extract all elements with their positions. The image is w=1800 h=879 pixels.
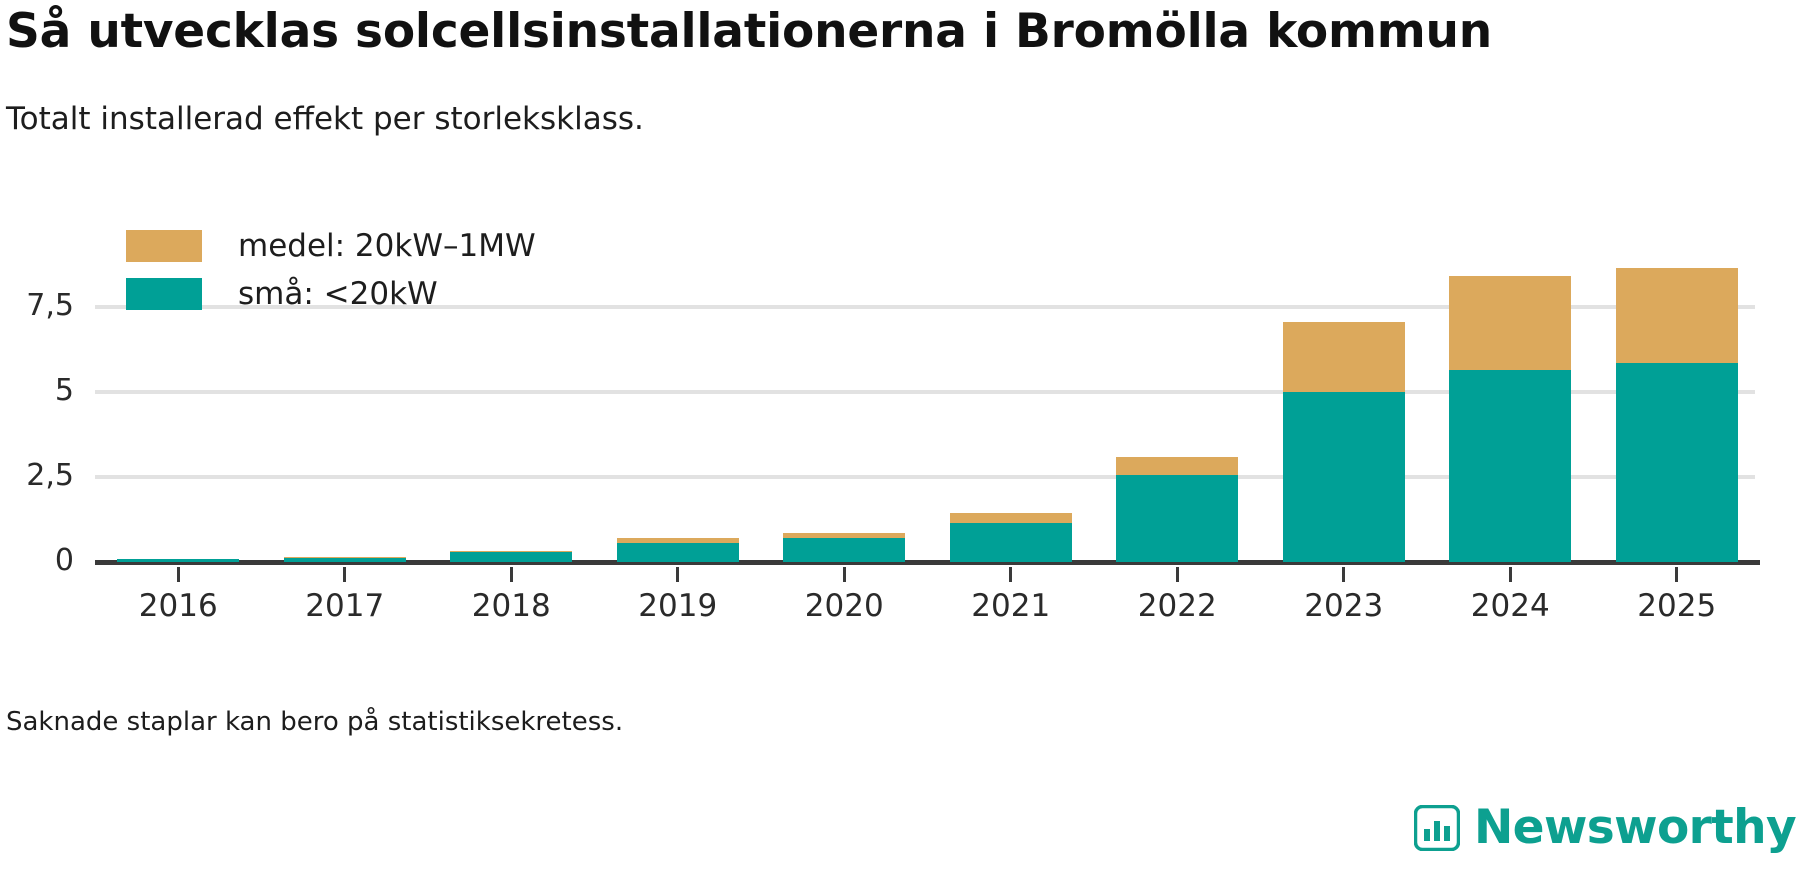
bar-segment-sma[interactable] bbox=[1616, 363, 1738, 562]
chart-plot-area: 02,557,520162017201820192020202120222023… bbox=[0, 0, 1800, 879]
bar-segment-sma[interactable] bbox=[617, 543, 739, 562]
bar-segment-sma[interactable] bbox=[117, 559, 239, 562]
x-axis-tick bbox=[1342, 567, 1345, 582]
x-axis-tick-label: 2024 bbox=[1430, 591, 1590, 622]
bar-stack-2021[interactable] bbox=[950, 513, 1072, 562]
brand-name: Newsworthy bbox=[1474, 804, 1796, 851]
bar-chart-logo-icon bbox=[1414, 805, 1460, 851]
x-axis-tick-label: 2022 bbox=[1097, 591, 1257, 622]
x-axis-tick-label: 2017 bbox=[265, 591, 425, 622]
x-axis-tick-label: 2025 bbox=[1597, 591, 1757, 622]
x-axis-tick bbox=[343, 567, 346, 582]
x-axis-tick bbox=[510, 567, 513, 582]
bar-stack-2017[interactable] bbox=[284, 557, 406, 562]
x-axis-tick bbox=[1509, 567, 1512, 582]
brand-logo[interactable]: Newsworthy bbox=[1414, 804, 1796, 851]
bar-stack-2022[interactable] bbox=[1116, 457, 1238, 562]
bar-segment-medel[interactable] bbox=[1449, 276, 1571, 370]
legend-label-medel: medel: 20kW–1MW bbox=[238, 231, 536, 262]
y-axis-tick-label: 0 bbox=[0, 546, 74, 576]
bar-segment-sma[interactable] bbox=[950, 523, 1072, 562]
legend-label-sma: små: <20kW bbox=[238, 279, 438, 310]
x-axis-tick bbox=[177, 567, 180, 582]
bar-segment-sma[interactable] bbox=[1449, 370, 1571, 562]
x-axis-tick-label: 2018 bbox=[431, 591, 591, 622]
bar-stack-2025[interactable] bbox=[1616, 268, 1738, 562]
x-axis-tick bbox=[1675, 567, 1678, 582]
bar-segment-sma[interactable] bbox=[783, 538, 905, 562]
x-axis-tick bbox=[676, 567, 679, 582]
bar-stack-2023[interactable] bbox=[1283, 322, 1405, 562]
chart-footnote: Saknade staplar kan bero på statistiksek… bbox=[6, 707, 623, 737]
bar-stack-2024[interactable] bbox=[1449, 276, 1571, 562]
y-axis-tick-label: 2,5 bbox=[0, 461, 74, 491]
legend-swatch-medel bbox=[126, 230, 202, 262]
x-axis-tick-label: 2019 bbox=[598, 591, 758, 622]
bar-segment-medel[interactable] bbox=[1283, 322, 1405, 392]
bar-segment-sma[interactable] bbox=[1116, 475, 1238, 562]
x-axis-tick-label: 2020 bbox=[764, 591, 924, 622]
bar-segment-sma[interactable] bbox=[450, 552, 572, 562]
bar-segment-medel[interactable] bbox=[950, 513, 1072, 523]
y-axis-tick-label: 5 bbox=[0, 376, 74, 406]
chart-legend: medel: 20kW–1MW små: <20kW bbox=[126, 222, 536, 318]
bar-segment-sma[interactable] bbox=[1283, 392, 1405, 562]
legend-item-sma[interactable]: små: <20kW bbox=[126, 270, 536, 318]
legend-item-medel[interactable]: medel: 20kW–1MW bbox=[126, 222, 536, 270]
bar-segment-medel[interactable] bbox=[1116, 457, 1238, 476]
bar-segment-sma[interactable] bbox=[284, 558, 406, 562]
x-axis-tick-label: 2016 bbox=[98, 591, 258, 622]
x-axis-tick-label: 2023 bbox=[1264, 591, 1424, 622]
bar-segment-medel[interactable] bbox=[1616, 268, 1738, 363]
x-axis-tick-label: 2021 bbox=[931, 591, 1091, 622]
x-axis-tick bbox=[1009, 567, 1012, 582]
x-axis-tick bbox=[843, 567, 846, 582]
bar-stack-2019[interactable] bbox=[617, 538, 739, 562]
bar-stack-2020[interactable] bbox=[783, 533, 905, 562]
x-axis-tick bbox=[1176, 567, 1179, 582]
bar-stack-2016[interactable] bbox=[117, 559, 239, 562]
legend-swatch-sma bbox=[126, 278, 202, 310]
y-axis-tick-label: 7,5 bbox=[0, 291, 74, 321]
bar-stack-2018[interactable] bbox=[450, 551, 572, 562]
